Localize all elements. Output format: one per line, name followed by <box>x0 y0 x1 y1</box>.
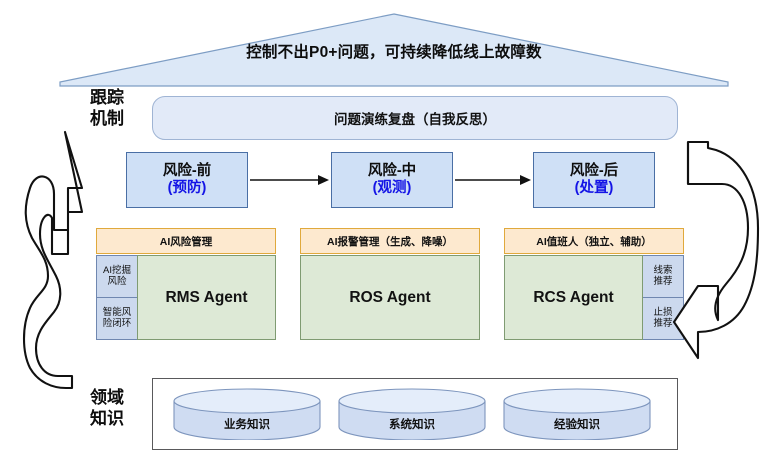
agent-group-rcs: AI值班人（独立、辅助） RCS Agent 线索 推荐 止损 推荐 <box>504 228 684 340</box>
agent-side-panel-left: AI挖掘 风险 智能风 险闭环 <box>96 255 137 340</box>
curved-arrow-up-icon <box>18 126 88 403</box>
agent-body-ros: ROS Agent <box>300 255 480 340</box>
problem-review-bar[interactable]: 问题演练复盘（自我反思） <box>152 96 678 140</box>
knowledge-cylinder-business[interactable]: 业务知识 <box>172 388 322 440</box>
agent-capability-cell[interactable]: AI挖掘 风险 <box>96 255 137 298</box>
curved-arrow-down-icon <box>664 136 764 421</box>
risk-stage-title: 风险-前 <box>163 163 211 180</box>
problem-review-label: 问题演练复盘（自我反思） <box>334 108 496 128</box>
knowledge-cylinder-experience[interactable]: 经验知识 <box>502 388 652 440</box>
agent-core-ros[interactable]: ROS Agent <box>300 255 480 340</box>
knowledge-cylinder-system[interactable]: 系统知识 <box>337 388 487 440</box>
risk-stage-title: 风险-中 <box>368 163 416 180</box>
arrow-right-icon <box>248 172 331 188</box>
agent-core-rcs[interactable]: RCS Agent <box>504 255 643 340</box>
agent-body-rcs: RCS Agent 线索 推荐 止损 推荐 <box>504 255 684 340</box>
risk-stage-before[interactable]: 风险-前 (预防) <box>126 152 248 208</box>
agent-header-rms[interactable]: AI风险管理 <box>96 228 276 254</box>
risk-stage-after[interactable]: 风险-后 (处置) <box>533 152 655 208</box>
agent-group-rms: AI风险管理 AI挖掘 风险 智能风 险闭环 RMS Agent <box>96 228 276 340</box>
agent-header-rcs[interactable]: AI值班人（独立、辅助） <box>504 228 684 254</box>
risk-stage-subtitle: (预防) <box>168 180 207 197</box>
agent-header-ros[interactable]: AI报警管理（生成、降噪） <box>300 228 480 254</box>
agent-body-rms: AI挖掘 风险 智能风 险闭环 RMS Agent <box>96 255 276 340</box>
risk-stage-title: 风险-后 <box>570 163 618 180</box>
agent-core-rms[interactable]: RMS Agent <box>137 255 276 340</box>
agent-group-ros: AI报警管理（生成、降噪） ROS Agent <box>300 228 480 340</box>
goal-banner-text: 控制不出P0+问题，可持续降低线上故障数 <box>58 40 730 62</box>
cylinder-icon <box>337 388 487 440</box>
section-label-tracking-mechanism: 跟踪 机制 <box>90 88 152 129</box>
agent-capability-cell[interactable]: 智能风 险闭环 <box>96 298 137 341</box>
section-label-domain-knowledge: 领域 知识 <box>90 388 152 429</box>
cylinder-icon <box>172 388 322 440</box>
cylinder-icon <box>502 388 652 440</box>
arrow-right-icon <box>453 172 533 188</box>
diagram-canvas: 控制不出P0+问题，可持续降低线上故障数 跟踪 机制 问题演练复盘（自我反思） … <box>0 0 784 464</box>
risk-stage-subtitle: (处置) <box>575 180 614 197</box>
risk-stage-subtitle: (观测) <box>373 180 412 197</box>
risk-stage-during[interactable]: 风险-中 (观测) <box>331 152 453 208</box>
